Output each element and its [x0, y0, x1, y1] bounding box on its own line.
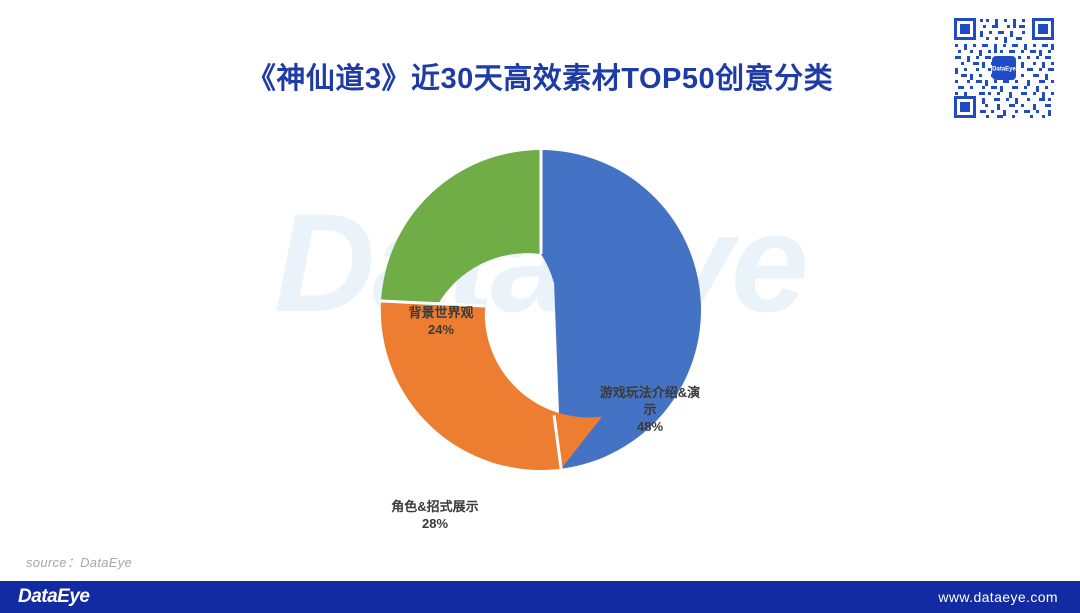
slice-label-blue-line2: 示 — [643, 402, 656, 417]
page-title: 《神仙道3》近30天高效素材TOP50创意分类 — [0, 60, 1080, 98]
footer-logo: DataEye — [18, 586, 90, 608]
slide-canvas: 《神仙道3》近30天高效素材TOP50创意分类 DataEye — [0, 0, 1080, 613]
slice-label-blue: 游戏玩法介绍&演 示 48% — [596, 384, 704, 435]
qr-center-label: DataEye — [992, 67, 1016, 73]
donut-slice-green[interactable] — [381, 150, 541, 306]
slice-label-blue-line1: 游戏玩法介绍&演 — [600, 385, 700, 400]
slice-label-orange: 角色&招式展示 28% — [372, 498, 498, 532]
slice-label-orange-line1: 角色&招式展示 — [391, 499, 478, 514]
donut-chart: 游戏玩法介绍&演 示 48% 角色&招式展示 28% 背景世界观 24% — [0, 120, 1080, 500]
slice-value-blue: 48% — [596, 418, 704, 435]
slice-label-green: 背景世界观 24% — [388, 304, 494, 338]
slice-value-orange: 28% — [372, 515, 498, 532]
source-note: source：DataEye — [26, 552, 132, 571]
footer-bar: DataEye www.dataeye.com — [0, 581, 1080, 613]
slice-value-green: 24% — [388, 321, 494, 338]
slice-label-green-line1: 背景世界观 — [408, 305, 473, 320]
qr-code-icon: DataEye — [950, 14, 1058, 122]
footer-url[interactable]: www.dataeye.com — [938, 589, 1058, 605]
qr-code[interactable]: DataEye — [950, 14, 1058, 122]
